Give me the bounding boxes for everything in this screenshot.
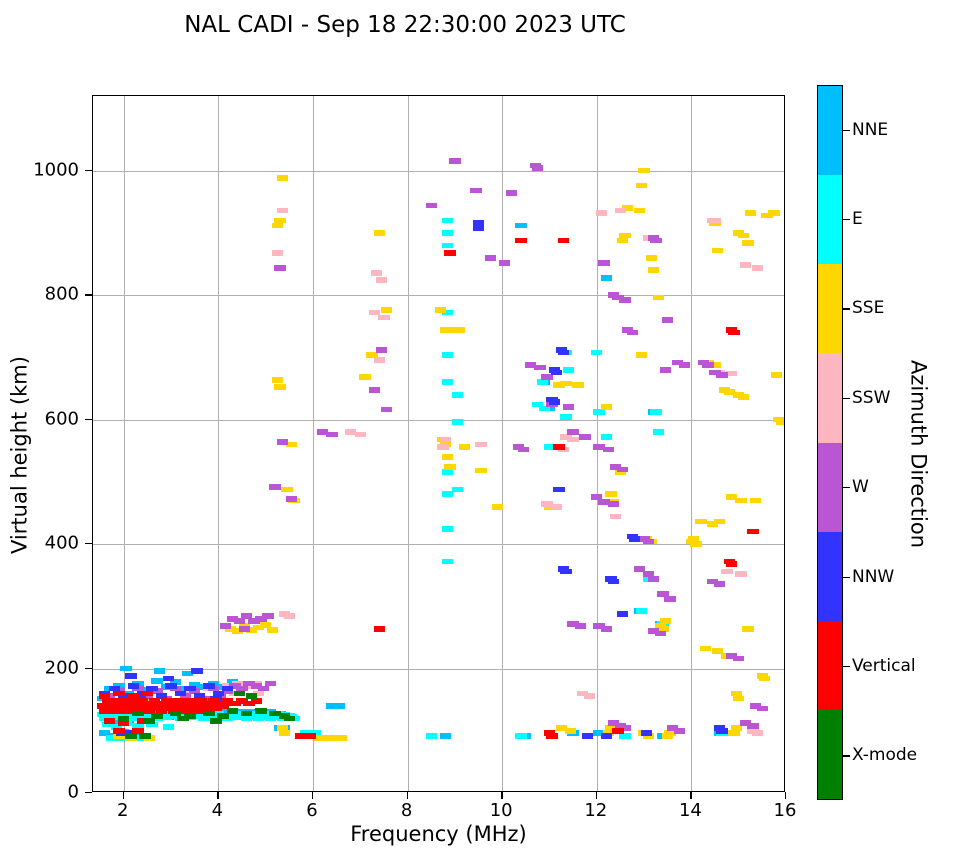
colorbar-label-nne: NNE [852, 120, 888, 140]
data-point [442, 454, 453, 460]
plot-area[interactable] [92, 95, 785, 792]
colorbar-tick-mark [843, 398, 850, 399]
data-point [374, 626, 385, 632]
y-tick-mark [85, 792, 92, 793]
data-point [326, 432, 337, 438]
data-point [598, 260, 609, 266]
data-point [579, 434, 590, 440]
data-point [265, 681, 276, 687]
colorbar-segment-vertical[interactable] [818, 621, 842, 710]
data-point [442, 218, 453, 224]
data-point [485, 255, 496, 261]
data-point [473, 225, 484, 231]
data-point [499, 260, 510, 266]
data-point [452, 392, 463, 398]
data-point [638, 168, 649, 174]
data-point [444, 464, 455, 470]
data-point [636, 608, 647, 614]
data-point [641, 730, 652, 736]
data-point [359, 374, 370, 380]
data-point [653, 429, 664, 435]
colorbar-segment-nnw[interactable] [818, 532, 842, 621]
data-point [286, 496, 297, 502]
data-point [712, 248, 723, 254]
data-point [369, 387, 380, 393]
data-point [575, 623, 586, 629]
colorbar-segment-sse[interactable] [818, 264, 842, 353]
data-point [629, 536, 640, 542]
data-point [726, 561, 737, 567]
data-point [251, 698, 262, 704]
colorbar-tick-mark [843, 577, 850, 578]
data-point [567, 429, 578, 435]
data-point [541, 374, 552, 380]
data-point [648, 267, 659, 273]
data-point [560, 569, 571, 575]
y-axis-label: Virtual height (km) [8, 107, 32, 804]
data-point [601, 275, 612, 281]
x-tick-mark [123, 792, 124, 799]
data-point [99, 693, 110, 699]
data-point [627, 330, 638, 336]
data-point [475, 442, 486, 448]
data-point [376, 277, 387, 283]
data-point [742, 240, 753, 246]
y-tick-mark [85, 170, 92, 171]
data-point [113, 728, 124, 734]
data-point [203, 683, 214, 689]
data-point [619, 233, 630, 239]
data-point [593, 409, 604, 415]
colorbar-label-nnw: NNW [852, 567, 894, 587]
data-point [646, 255, 657, 261]
data-point [277, 175, 288, 181]
colorbar-segment-w[interactable] [818, 443, 842, 532]
data-point [274, 384, 285, 390]
page-title: NAL CADI - Sep 18 22:30:00 2023 UTC [0, 12, 810, 38]
data-point [113, 691, 124, 697]
data-point [617, 611, 628, 617]
data-point [643, 539, 654, 545]
data-point [281, 487, 292, 493]
data-point [584, 693, 595, 699]
data-point [234, 618, 245, 624]
data-point [735, 498, 746, 504]
data-point [776, 419, 785, 425]
data-point [437, 444, 448, 450]
data-point [381, 407, 392, 413]
x-tick-mark [785, 792, 786, 799]
data-point [515, 223, 526, 229]
x-tick-label: 8 [377, 800, 437, 821]
data-point [234, 691, 245, 697]
data-point [274, 265, 285, 271]
data-point [128, 683, 139, 689]
data-point [700, 646, 711, 652]
data-point [560, 414, 571, 420]
data-point [118, 716, 129, 722]
data-point [572, 382, 583, 388]
data-point [738, 233, 749, 239]
colorbar-tick-mark [843, 130, 850, 131]
colorbar-tick-mark [843, 755, 850, 756]
data-point [191, 668, 202, 674]
data-point [549, 399, 560, 405]
data-point [733, 656, 744, 662]
data-point [532, 165, 543, 171]
data-point [617, 238, 628, 244]
data-point [470, 188, 481, 194]
data-point [374, 357, 385, 363]
x-tick-label: 2 [93, 800, 153, 821]
data-point [184, 686, 195, 692]
data-point [653, 295, 664, 301]
data-point [747, 529, 758, 535]
data-point [558, 350, 569, 356]
data-point [165, 683, 176, 689]
data-point [636, 352, 647, 358]
data-point [262, 613, 273, 619]
data-point [163, 676, 174, 682]
colorbar-segment-x-mode[interactable] [818, 710, 842, 799]
colorbar-tick-mark [843, 666, 850, 667]
data-point [619, 297, 630, 303]
data-point [277, 725, 288, 731]
data-point [534, 365, 545, 371]
colorbar-title: Azimuth Direction [907, 97, 931, 812]
data-point [246, 693, 257, 699]
data-point [735, 571, 746, 577]
data-point [738, 394, 749, 400]
data-point [144, 718, 155, 724]
data-point [679, 362, 690, 368]
data-point [452, 419, 463, 425]
data-point [648, 576, 659, 582]
data-point [733, 696, 744, 702]
data-point [151, 678, 162, 684]
data-point [582, 733, 593, 739]
data-point [203, 711, 214, 717]
data-point [695, 519, 706, 525]
data-point [272, 377, 283, 383]
data-point [612, 728, 623, 734]
x-axis-label: Frequency (MHz) [92, 822, 785, 846]
data-point [752, 730, 763, 736]
data-point [272, 250, 283, 256]
data-point [442, 526, 453, 532]
data-point [452, 487, 463, 493]
colorbar-segment-nne[interactable] [818, 86, 842, 175]
data-point [546, 733, 557, 739]
data-point [515, 238, 526, 244]
data-point [731, 725, 742, 731]
data-point [239, 626, 250, 632]
data-point [601, 733, 612, 739]
x-tick-label: 12 [566, 800, 626, 821]
data-point [132, 711, 143, 717]
data-point [752, 265, 763, 271]
colorbar-tick-mark [843, 487, 850, 488]
data-point [104, 718, 115, 724]
data-point [118, 720, 129, 726]
data-point [506, 190, 517, 196]
data-point [747, 723, 758, 729]
data-point [660, 618, 671, 624]
data-point [558, 238, 569, 244]
data-point [336, 735, 347, 741]
colorbar-label-w: W [852, 477, 869, 497]
data-point [596, 210, 607, 216]
data-point [442, 230, 453, 236]
data-point [532, 402, 543, 408]
data-point [139, 733, 150, 739]
data-point [125, 733, 136, 739]
data-point [615, 208, 626, 214]
data-point [442, 491, 453, 497]
data-point [660, 367, 671, 373]
data-point [442, 379, 453, 385]
data-point [120, 666, 131, 672]
data-point [674, 728, 685, 734]
data-point [284, 613, 295, 619]
data-point [605, 491, 616, 497]
data-point [426, 203, 437, 209]
data-point [475, 468, 486, 474]
data-point [750, 498, 761, 504]
x-tick-mark [501, 792, 502, 799]
data-point [610, 514, 621, 520]
data-point [565, 728, 576, 734]
data-point [459, 444, 470, 450]
data-point [714, 581, 725, 587]
data-point [601, 404, 612, 410]
data-point [728, 730, 739, 736]
data-point [601, 434, 612, 440]
colorbar-tick-mark [843, 219, 850, 220]
colorbar-label-sse: SSE [852, 298, 884, 318]
data-point [603, 447, 614, 453]
data-point [567, 437, 578, 443]
data-point [142, 691, 153, 697]
data-point [740, 262, 751, 268]
ionogram-figure: NAL CADI - Sep 18 22:30:00 2023 UTC 0200… [0, 0, 958, 857]
data-point [728, 330, 739, 336]
x-tick-label: 10 [471, 800, 531, 821]
data-point [305, 733, 316, 739]
data-point [537, 379, 548, 385]
data-point [258, 686, 269, 692]
colorbar-segment-e[interactable] [818, 175, 842, 264]
data-point [716, 728, 727, 734]
x-tick-label: 14 [660, 800, 720, 821]
data-point [721, 569, 732, 575]
data-point [284, 716, 295, 722]
x-tick-mark [596, 792, 597, 799]
data-point [518, 447, 529, 453]
data-point [553, 444, 564, 450]
data-point [210, 718, 221, 724]
data-point [163, 724, 174, 730]
data-point [371, 270, 382, 276]
data-point [768, 210, 779, 216]
data-point [128, 693, 139, 699]
data-point [608, 579, 619, 585]
data-point [551, 370, 562, 376]
data-point [563, 367, 574, 373]
data-point [378, 315, 389, 321]
data-point [702, 362, 713, 368]
data-point [442, 469, 453, 475]
data-point [269, 484, 280, 490]
data-point [591, 350, 602, 356]
data-point [619, 733, 630, 739]
x-tick-label: 4 [187, 800, 247, 821]
x-tick-label: 6 [282, 800, 342, 821]
data-point [272, 223, 283, 229]
data-point [355, 432, 366, 438]
data-point [709, 218, 720, 224]
data-point [650, 409, 661, 415]
data-point [279, 730, 290, 736]
data-point [553, 487, 564, 493]
data-point [662, 317, 673, 323]
x-tick-mark [217, 792, 218, 799]
data-point [277, 439, 288, 445]
y-tick-mark [85, 543, 92, 544]
data-point [255, 708, 266, 714]
data-point [492, 504, 503, 510]
data-point [442, 243, 453, 249]
y-tick-mark [85, 668, 92, 669]
data-point [655, 631, 666, 637]
data-point [442, 352, 453, 358]
data-point [227, 708, 238, 714]
data-point [267, 627, 278, 633]
colorbar-label-ssw: SSW [852, 388, 890, 408]
data-point [435, 307, 446, 313]
data-point [454, 327, 465, 333]
data-point [175, 691, 186, 697]
colorbar-tick-mark [843, 308, 850, 309]
data-point [515, 733, 526, 739]
data-point [376, 347, 387, 353]
colorbar-segment-ssw[interactable] [818, 353, 842, 442]
data-point [757, 706, 768, 712]
colorbar[interactable] [817, 85, 843, 800]
data-point [440, 733, 451, 739]
colorbar-label-e: E [852, 209, 863, 229]
data-point [742, 626, 753, 632]
data-point [440, 437, 451, 443]
x-tick-mark [407, 792, 408, 799]
data-point [154, 668, 165, 674]
data-point [636, 183, 647, 189]
data-point [222, 686, 233, 692]
data-point [551, 504, 562, 510]
y-tick-mark [85, 294, 92, 295]
x-tick-mark [690, 792, 691, 799]
data-point [177, 716, 188, 722]
data-point [560, 381, 571, 387]
data-points-layer [93, 96, 784, 791]
data-point [664, 596, 675, 602]
data-point [381, 307, 392, 313]
data-point [449, 158, 460, 164]
data-point [444, 250, 455, 256]
data-point [442, 559, 453, 565]
data-point [601, 626, 612, 632]
data-point [759, 676, 770, 682]
data-point [716, 372, 727, 378]
x-tick-label: 16 [755, 800, 815, 821]
data-point [220, 623, 231, 629]
data-point [333, 703, 344, 709]
data-point [771, 372, 782, 378]
data-point [617, 467, 628, 473]
data-point [650, 238, 661, 244]
data-point [608, 501, 619, 507]
y-tick-mark [85, 419, 92, 420]
data-point [690, 541, 701, 547]
data-point [563, 404, 574, 410]
data-point [241, 711, 252, 717]
data-point [374, 230, 385, 236]
data-point [634, 208, 645, 214]
x-tick-mark [312, 792, 313, 799]
data-point [125, 673, 136, 679]
data-point [426, 733, 437, 739]
data-point [714, 519, 725, 525]
data-point [745, 210, 756, 216]
data-point [277, 208, 288, 214]
